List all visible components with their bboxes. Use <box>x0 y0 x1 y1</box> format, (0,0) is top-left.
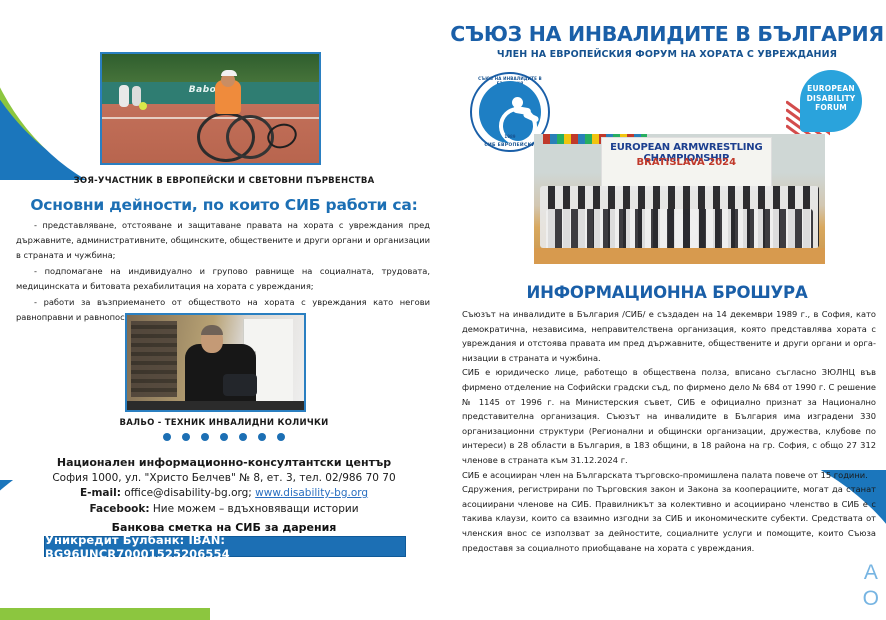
activity-paragraph: - представляване, отстояване и защитаван… <box>16 218 430 263</box>
page-subtitle: ЧЛЕН НА ЕВРОПЕЙСКИЯ ФОРУМ НА ХОРАТА С УВ… <box>448 49 886 60</box>
decorative-dot <box>201 433 209 441</box>
about-paragraph: СИБ е асоцииран член на Българската търг… <box>462 468 876 483</box>
iban-banner: Уникредит Булбанк: IBAN: BG96UNCR7000152… <box>44 536 406 557</box>
decorative-dot <box>239 433 247 441</box>
contact-facebook-row: Facebook: Ние можем – вдъхновяващи истор… <box>0 502 448 518</box>
valyo-photo-toolboard <box>131 321 177 397</box>
decorative-dot-row <box>0 433 448 441</box>
right-column: СЪЮЗ НА ИНВАЛИДИТЕ В БЪЛГАРИЯ ЧЛЕН НА ЕВ… <box>448 0 886 620</box>
edf-logo-line1: EUROPEAN <box>800 84 862 94</box>
left-lead-heading: Основни дейности, по които СИБ работи са… <box>14 196 434 214</box>
edf-logo-text: EUROPEAN DISABILITY FORUM <box>800 84 862 113</box>
team-photo-banner: EUROPEAN ARMWRESTLING CHAMPIONSHIP BRATI… <box>601 137 772 191</box>
wheelchair-icon-wheel <box>499 107 537 145</box>
contact-email-value: office@disability-bg.org; <box>124 487 252 499</box>
contact-website-link[interactable]: www.disability-bg.org <box>255 487 368 499</box>
decorative-dot <box>163 433 171 441</box>
contact-block: Национален информационно-консултантски ц… <box>0 455 448 517</box>
tennis-ball-icon <box>139 102 147 110</box>
tennis-photo-trees <box>102 54 319 82</box>
team-photo-front-row <box>546 209 814 253</box>
decorative-dot <box>182 433 190 441</box>
contact-email-row: E-mail: office@disability-bg.org; www.di… <box>0 486 448 502</box>
edf-logo-line3: FORUM <box>800 103 862 113</box>
contact-facebook-value: Ние можем – вдъхновяващи истории <box>153 503 359 515</box>
decorative-dot <box>258 433 266 441</box>
about-paragraph: Съюзът на инвалидите в България /СИБ/ е … <box>462 307 876 365</box>
photo-armwrestling-team: EUROPEAN ARMWRESTLING CHAMPIONSHIP BRATI… <box>534 134 825 264</box>
brochure-page: АО ЗОЯ-УЧАСТНИК В ЕВРОПЕЙСКИ И СВЕТОВНИ … <box>0 0 886 620</box>
about-paragraph: Сдружения, регистрирани по Търговския за… <box>462 482 876 555</box>
valyo-photo-bench <box>127 401 304 411</box>
edf-logo-line2: DISABILITY <box>800 94 862 104</box>
about-paragraph: СИБ е юридическо лице, работещо в общест… <box>462 365 876 467</box>
contact-center-name: Национален информационно-консултантски ц… <box>0 455 448 471</box>
tennis-photo-spectator <box>119 85 129 107</box>
brochure-title: ИНФОРМАЦИОННА БРОШУРА <box>448 283 886 302</box>
contact-facebook-label: Facebook: <box>89 503 149 515</box>
decorative-dot <box>277 433 285 441</box>
team-photo-floor <box>534 248 825 264</box>
tennis-player-cap <box>221 70 237 76</box>
decorative-dot <box>220 433 228 441</box>
valyo-photo-workpiece <box>223 374 257 396</box>
photo-valyo-technician <box>125 313 306 412</box>
photo-caption-tennis: ЗОЯ-УЧАСТНИК В ЕВРОПЕЙСКИ И СВЕТОВНИ ПЪР… <box>0 176 448 186</box>
page-title: СЪЮЗ НА ИНВАЛИДИТЕ В БЪЛГАРИЯ <box>448 22 886 46</box>
activity-paragraph: - подпомагане на индивидуално и групово … <box>16 264 430 294</box>
left-activities-text: - представляване, отстояване и защитаван… <box>16 218 430 326</box>
valyo-photo-person-hair <box>201 325 223 335</box>
european-disability-forum-logo: EUROPEAN DISABILITY FORUM <box>786 66 872 140</box>
contact-address: София 1000, ул. "Христо Белчев" № 8, ет.… <box>0 471 448 487</box>
photo-caption-valyo: ВАЛЬО - ТЕХНИК ИНВАЛИДНИ КОЛИЧКИ <box>0 418 448 428</box>
about-text-block: Съюзът на инвалидите в България /СИБ/ е … <box>462 307 876 555</box>
contact-email-label: E-mail: <box>80 487 121 499</box>
photo-tennis-athlete <box>100 52 321 165</box>
team-banner-line2: BRATISLAVA 2024 <box>602 157 771 168</box>
left-column: ЗОЯ-УЧАСТНИК В ЕВРОПЕЙСКИ И СВЕТОВНИ ПЪР… <box>0 0 448 620</box>
